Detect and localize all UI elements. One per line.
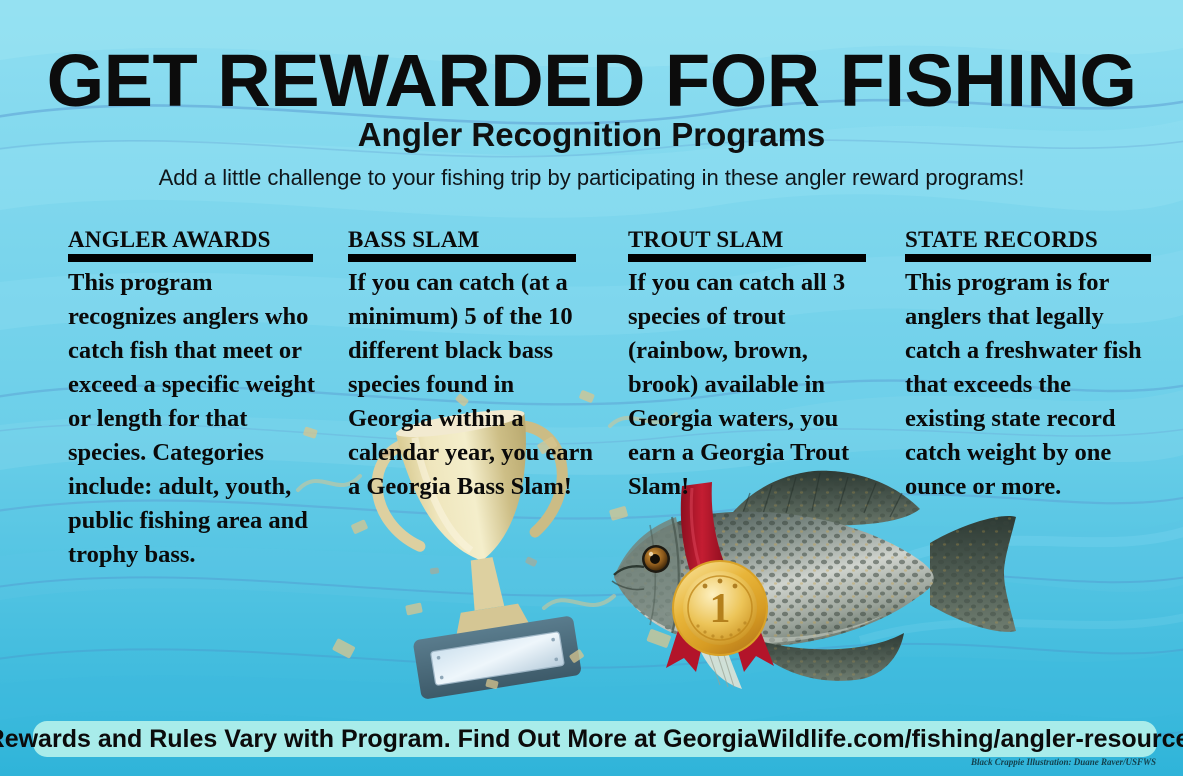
footer-banner-text: Rewards and Rules Vary with Program. Fin… <box>0 727 1183 752</box>
page-title: GET REWARDED FOR FISHING <box>0 44 1183 118</box>
heading-underline <box>905 254 1151 262</box>
program-columns: ANGLER AWARDS This program recognizes an… <box>0 228 1183 698</box>
column-heading: TROUT SLAM <box>628 228 878 251</box>
page-tagline: Add a little challenge to your fishing t… <box>0 166 1183 190</box>
heading-underline <box>628 254 866 262</box>
column-heading: ANGLER AWARDS <box>68 228 318 251</box>
program-column-angler-awards: ANGLER AWARDS This program recognizes an… <box>68 228 318 572</box>
column-heading: STATE RECORDS <box>905 228 1155 251</box>
program-column-bass-slam: BASS SLAM If you can catch (at a minimum… <box>348 228 598 504</box>
column-body: If you can catch (at a minimum) 5 of the… <box>348 266 598 504</box>
column-body: This program recognizes anglers who catc… <box>68 266 318 572</box>
illustration-credit: Black Crappie Illustration: Duane Raver/… <box>971 758 1156 767</box>
footer-banner[interactable]: Rewards and Rules Vary with Program. Fin… <box>33 721 1157 757</box>
page-subtitle: Angler Recognition Programs <box>0 118 1183 153</box>
column-body: If you can catch all 3 species of trout … <box>628 266 878 504</box>
program-column-state-records: STATE RECORDS This program is for angler… <box>905 228 1155 504</box>
heading-underline <box>348 254 576 262</box>
column-heading: BASS SLAM <box>348 228 598 251</box>
column-body: This program is for anglers that legally… <box>905 266 1155 504</box>
program-column-trout-slam: TROUT SLAM If you can catch all 3 specie… <box>628 228 878 504</box>
poster-canvas: 1 GET REWARDED FOR FISHING Angler Recogn… <box>0 0 1183 776</box>
heading-underline <box>68 254 313 262</box>
